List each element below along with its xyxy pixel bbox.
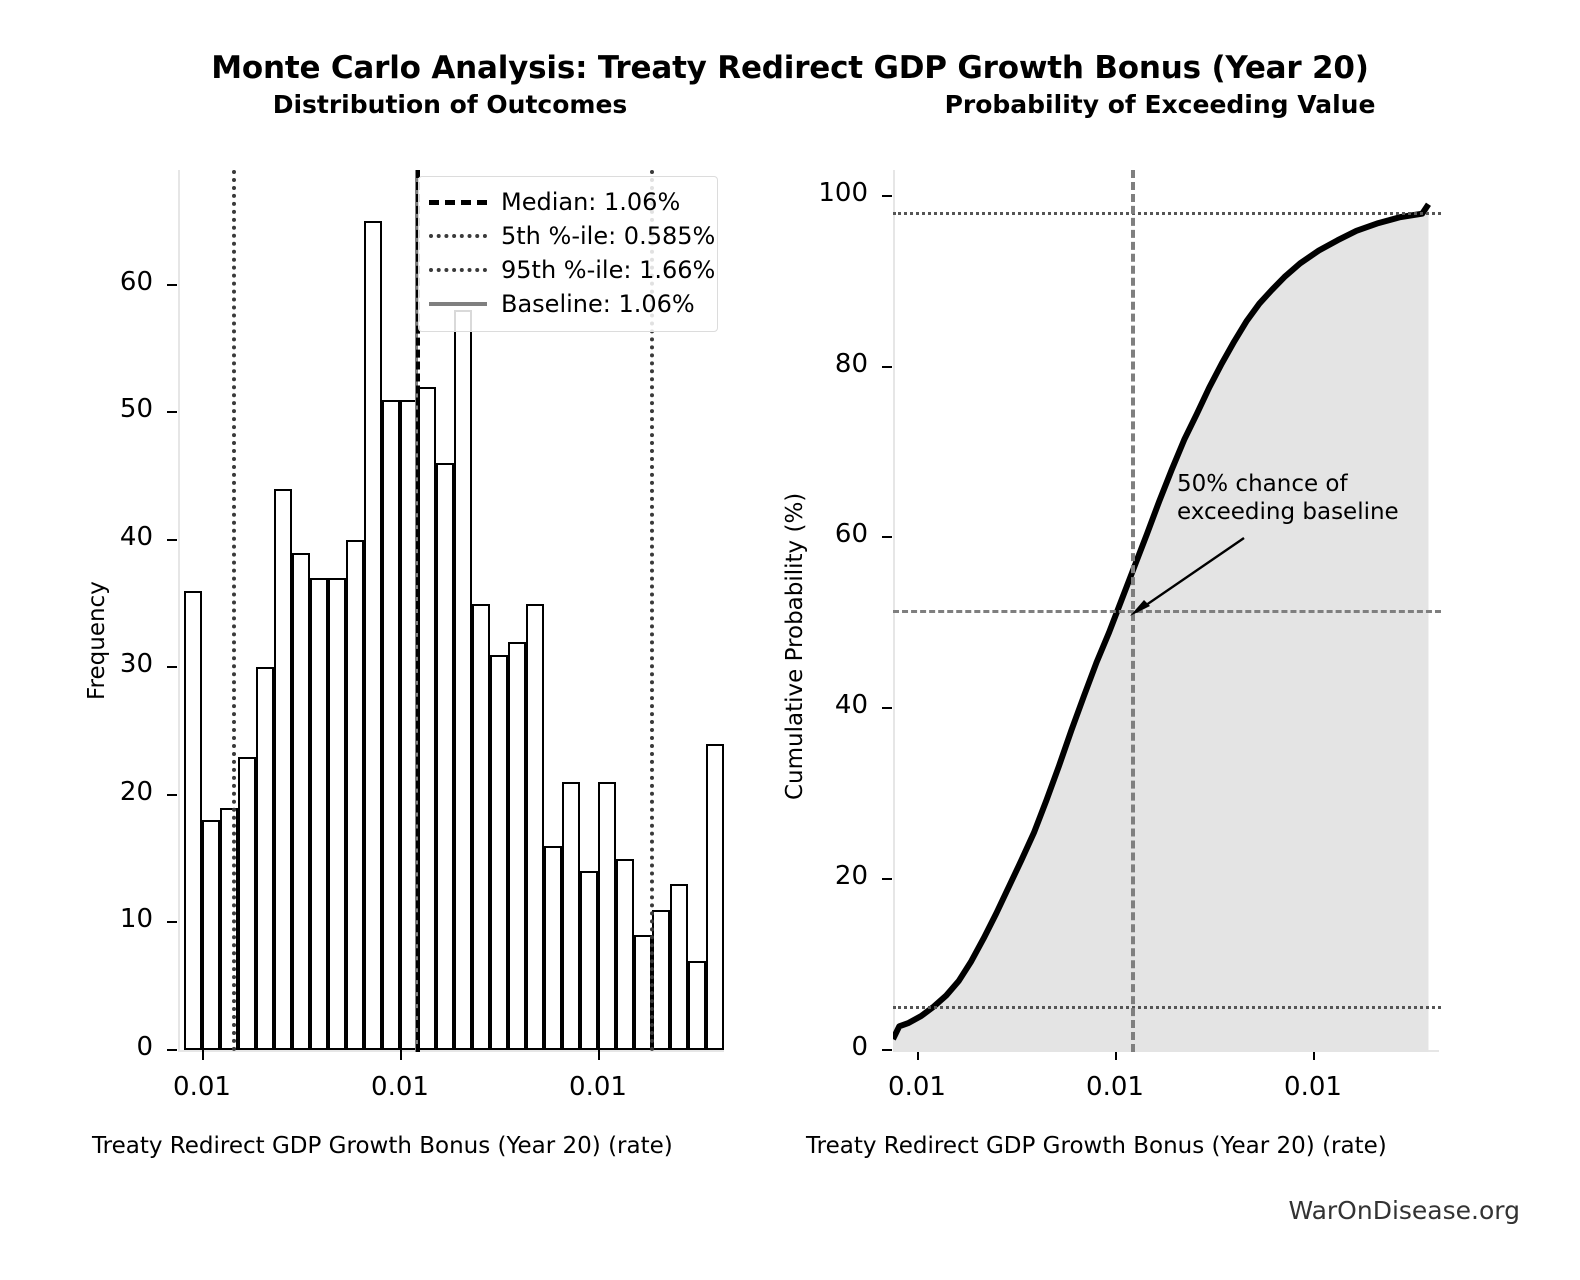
left-x-axis-label: Treaty Redirect GDP Growth Bonus (Year 2… bbox=[92, 1133, 673, 1159]
right-y-tick-label: 20 bbox=[788, 861, 868, 891]
p95-hline bbox=[893, 212, 1441, 215]
right-panel-axes: Probability of Exceeding Value 020406080… bbox=[0, 0, 1580, 1100]
right-y-tickmark bbox=[882, 1049, 892, 1051]
right-x-tick-label: 0.01 bbox=[1253, 1072, 1373, 1102]
right-y-tickmark bbox=[882, 366, 892, 368]
right-y-tickmark bbox=[882, 878, 892, 880]
cdf-fill-area bbox=[893, 204, 1428, 1052]
right-x-axis-label: Treaty Redirect GDP Growth Bonus (Year 2… bbox=[806, 1133, 1387, 1159]
right-y-tick-label: 100 bbox=[788, 178, 868, 208]
figure-root: Monte Carlo Analysis: Treaty Redirect GD… bbox=[0, 0, 1580, 1280]
annotation-arrow-icon bbox=[1120, 530, 1250, 625]
right-y-tickmark bbox=[882, 536, 892, 538]
right-x-tick-label: 0.01 bbox=[1055, 1072, 1175, 1102]
right-panel-title: Probability of Exceeding Value bbox=[880, 90, 1440, 119]
p5-hline bbox=[893, 1006, 1441, 1009]
right-y-tickmark bbox=[882, 707, 892, 709]
right-y-axis-label: Cumulative Probability (%) bbox=[782, 493, 808, 800]
right-x-tick-label: 0.01 bbox=[857, 1072, 977, 1102]
right-y-tickmark bbox=[882, 195, 892, 197]
footer-watermark: WarOnDisease.org bbox=[1288, 1196, 1520, 1225]
right-y-tick-label: 0 bbox=[788, 1032, 868, 1062]
right-y-tick-label: 80 bbox=[788, 349, 868, 379]
cdf-annotation-text: 50% chance of exceeding baseline bbox=[1177, 470, 1399, 526]
